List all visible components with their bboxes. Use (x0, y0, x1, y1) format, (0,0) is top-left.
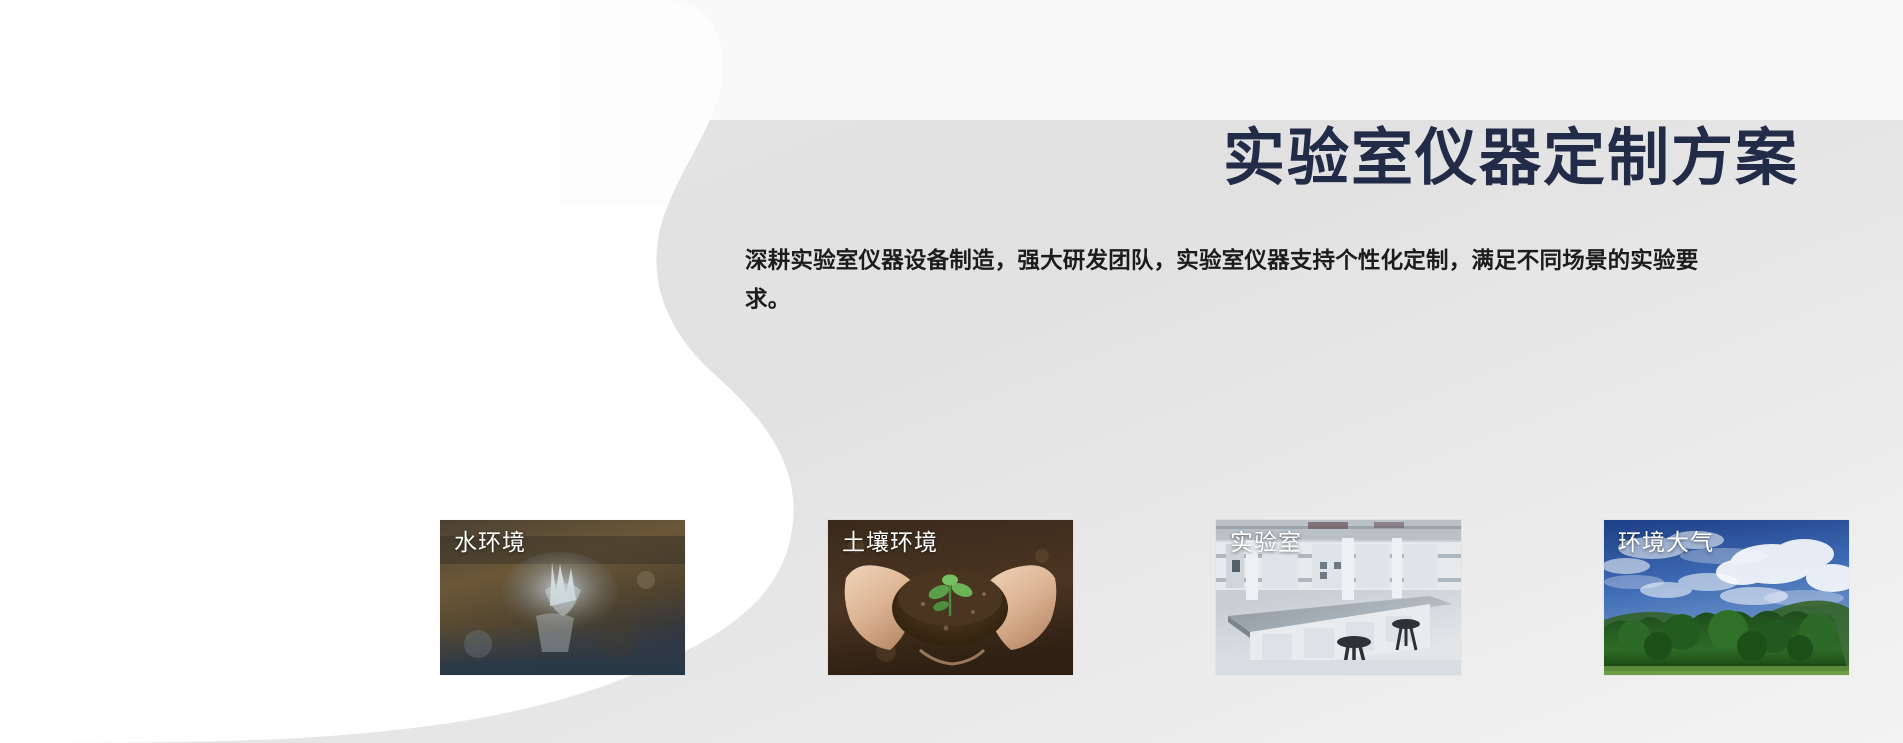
category-card-water[interactable]: 水环境 (440, 520, 685, 675)
hero-text-block: 实验室仪器定制方案 深耕实验室仪器设备制造，强大研发团队，实验室仪器支持个性化定… (745, 128, 1805, 319)
page-subtitle: 深耕实验室仪器设备制造，强大研发团队，实验室仪器支持个性化定制，满足不同场景的实… (745, 242, 1725, 319)
card-label-atmosphere: 环境大气 (1618, 529, 1714, 557)
card-label-soil: 土壤环境 (842, 529, 938, 557)
decorative-circle-small (239, 444, 305, 510)
top-light-wash (640, 0, 1903, 120)
hero-banner: 实验室仪器定制方案 深耕实验室仪器设备制造，强大研发团队，实验室仪器支持个性化定… (0, 0, 1903, 743)
page-title: 实验室仪器定制方案 (745, 128, 1805, 190)
category-card-list: 水环境 (440, 520, 1715, 675)
category-card-soil[interactable]: 土壤环境 (828, 520, 1073, 675)
category-card-atmosphere[interactable]: 环境大气 (1604, 520, 1849, 675)
decorative-circle-large (317, 124, 449, 256)
category-card-lab[interactable]: 实验室 (1216, 520, 1461, 675)
card-label-lab: 实验室 (1230, 529, 1302, 557)
card-label-water: 水环境 (454, 529, 526, 557)
